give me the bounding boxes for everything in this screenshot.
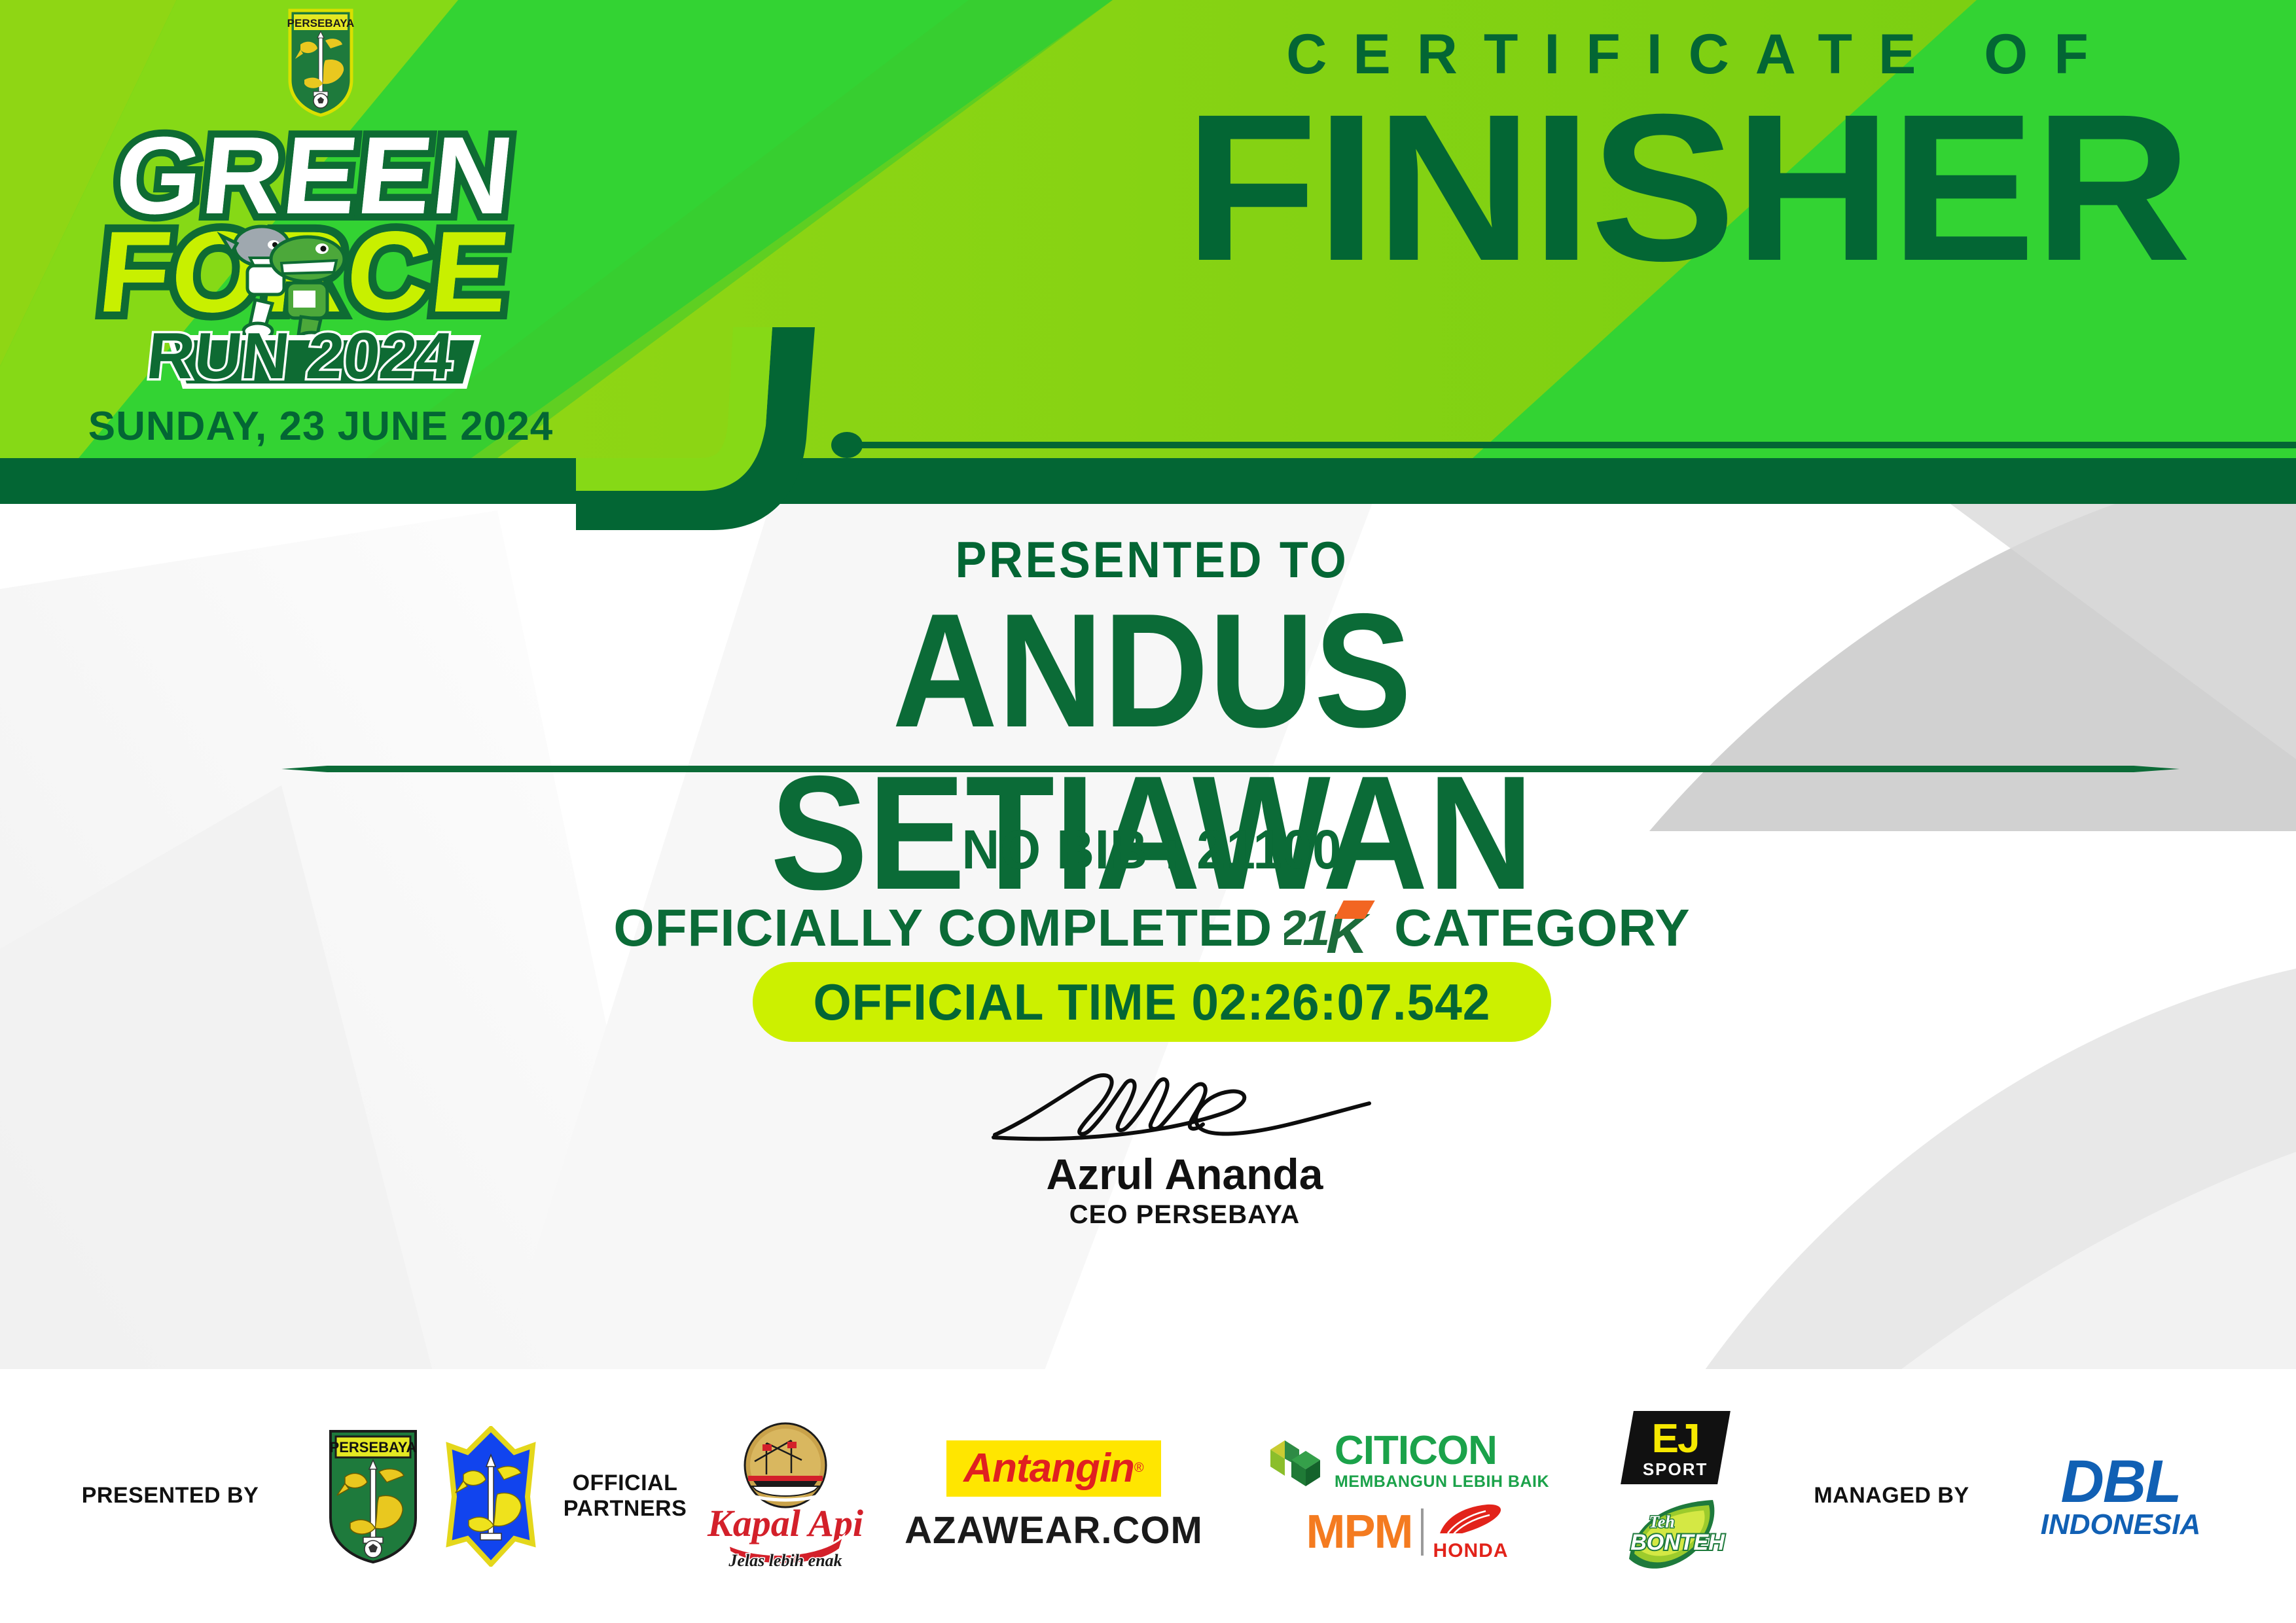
21k-logo-icon: 21 K — [1284, 897, 1382, 959]
official-time-badge: OFFICIAL TIME 02:26:07.542 — [753, 962, 1551, 1042]
green-force-run-logo: GREEN GREEN FORCE FORCE — [72, 122, 569, 397]
mpm-divider — [1421, 1508, 1424, 1556]
certificate-body: PRESENTED TO ANDUS SETIAWAN NO BIB : 211… — [0, 504, 2296, 1368]
honda-wordmark: HONDA — [1433, 1540, 1508, 1562]
kapal-api-logo: Kapal Api Jelas lebih enak — [700, 1421, 870, 1571]
antangin-wordmark: Antangin — [963, 1448, 1134, 1489]
bonteh-word: BONTEH — [1630, 1530, 1725, 1555]
presented-by-label: PRESENTED BY — [26, 1483, 314, 1508]
kapal-api-icon: Kapal Api Jelas lebih enak — [704, 1421, 867, 1571]
event-date: SUNDAY, 23 JUNE 2024 — [88, 403, 553, 450]
citicon-wordmark: CITICON — [1335, 1431, 1549, 1471]
surabaya-emblem-icon — [444, 1426, 539, 1567]
registered-mark-icon: ® — [1134, 1461, 1144, 1476]
bonteh-teh-word: Teh — [1649, 1512, 1675, 1531]
citicon-mpm-group: CITICON MEMBANGUN LEBIH BAIK MPM — [1237, 1430, 1577, 1562]
persebaya-footer-badge: PERSEBAYA — [314, 1427, 432, 1565]
antangin-logo: Antangin ® — [946, 1440, 1160, 1497]
svg-text:RUN 2024: RUN 2024 — [143, 319, 457, 393]
official-time-value: 02:26:07.542 — [1191, 973, 1490, 1031]
ej-bonteh-group: EJ SPORT Teh BONTEH — [1577, 1411, 1774, 1581]
official-time-label: OFFICIAL TIME — [814, 973, 1177, 1031]
dbl-indonesia-logo: DBL INDONESIA — [2009, 1454, 2232, 1538]
official-partners-label: OFFICIAL PARTNERS — [550, 1471, 700, 1522]
mpm-honda-logo: MPM HONDA — [1306, 1502, 1509, 1562]
azawear-logo: AZAWEAR.COM — [905, 1508, 1203, 1552]
completed-suffix: CATEGORY — [1394, 898, 1690, 958]
ej-sport-sub: SPORT — [1643, 1461, 1708, 1478]
sponsor-footer: PRESENTED BY PERSEBAYA — [0, 1369, 2296, 1623]
citicon-tagline: MEMBANGUN LEBIH BAIK — [1335, 1474, 1549, 1490]
bib-label: NO BIB : — [961, 819, 1181, 880]
bib-number: 21100 — [1196, 819, 1342, 880]
surabaya-city-emblem — [432, 1426, 550, 1567]
ej-wordmark: EJ — [1643, 1419, 1708, 1459]
managed-by-label: MANAGED BY — [1774, 1483, 2009, 1508]
panel-corner-outline — [576, 327, 916, 530]
category-line: OFFICIALLY COMPLETED 21 K CATEGORY — [419, 897, 1885, 959]
dot-line-decoration — [831, 432, 2296, 458]
signatory-name: Azrul Ananda — [890, 1149, 1479, 1199]
signature-block: Azrul Ananda CEO PERSEBAYA — [890, 1067, 1479, 1230]
citicon-logo: CITICON MEMBANGUN LEBIH BAIK — [1265, 1430, 1549, 1490]
bib-line: NO BIB : 21100 — [605, 818, 1699, 882]
signatory-role: CEO PERSEBAYA — [890, 1200, 1479, 1230]
event-logo-lockup: PERSEBAYA GREEN — [39, 7, 602, 450]
handwritten-signature-icon — [982, 1067, 1388, 1145]
svg-text:PERSEBAYA: PERSEBAYA — [287, 17, 355, 29]
name-divider-rule — [281, 766, 2179, 772]
ej-sport-logo: EJ SPORT — [1621, 1411, 1730, 1484]
dbl-wordmark: DBL — [2060, 1454, 2180, 1510]
dbl-sub-wordmark: INDONESIA — [2041, 1511, 2200, 1539]
mpm-wordmark: MPM — [1306, 1508, 1412, 1556]
certificate-canvas: CERTIFICATE OF FINISHER PERSEBAYA — [0, 0, 2296, 1623]
antangin-azawear-group: Antangin ® AZAWEAR.COM — [870, 1440, 1237, 1552]
persebaya-badge-icon: PERSEBAYA — [285, 7, 357, 118]
official-time-text: OFFICIAL TIME 02:26:07.542 — [814, 972, 1491, 1032]
svg-text:PERSEBAYA: PERSEBAYA — [330, 1439, 417, 1455]
persebaya-shield-icon: PERSEBAYA — [324, 1427, 422, 1565]
honda-wing-icon — [1435, 1502, 1507, 1539]
svg-text:Jelas lebih enak: Jelas lebih enak — [728, 1551, 842, 1570]
citicon-cube-icon — [1265, 1430, 1325, 1490]
completed-prefix: OFFICIALLY COMPLETED — [613, 898, 1272, 958]
teh-bonteh-logo: Teh BONTEH — [1620, 1496, 1731, 1581]
